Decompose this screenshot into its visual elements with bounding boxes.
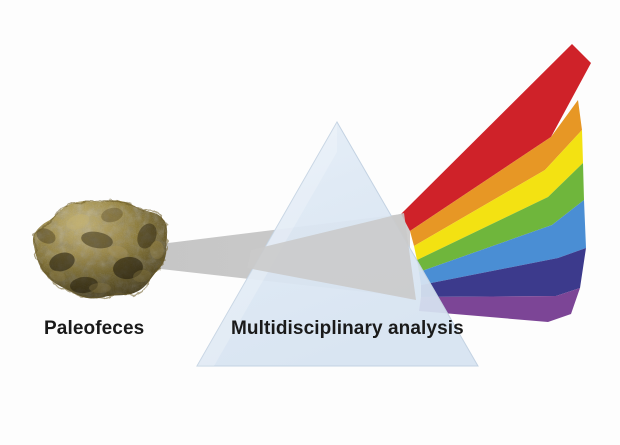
specimen-label: Paleofeces [44, 318, 144, 340]
diagram-canvas [0, 0, 620, 445]
prism-label: Multidisciplinary analysis [231, 318, 464, 340]
figure-root: Paleofeces Multidisciplinary analysis Pa… [0, 0, 620, 445]
